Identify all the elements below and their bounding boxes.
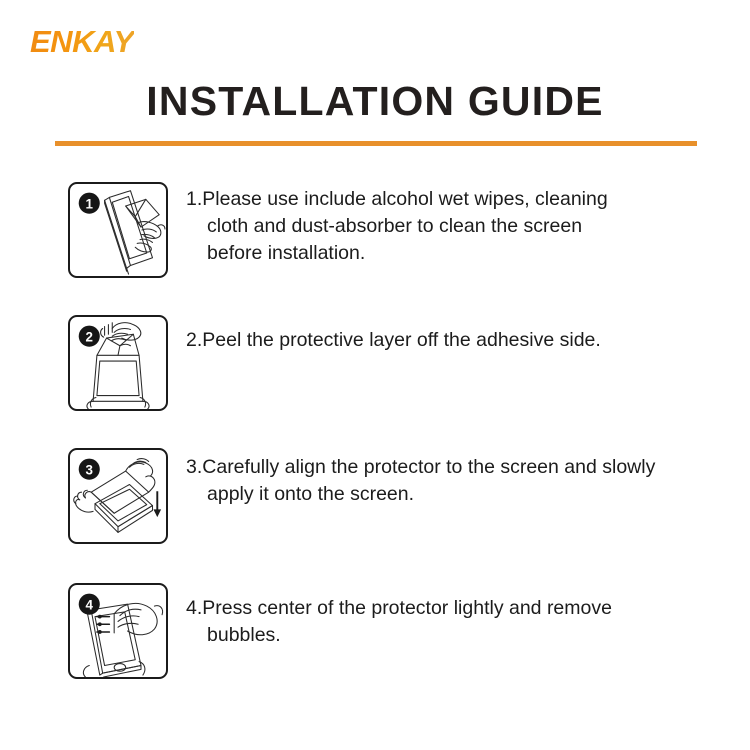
step-2-number: 2. — [186, 329, 202, 351]
installation-guide-page: ENKAY INSTALLATION GUIDE — [0, 0, 750, 750]
svg-text:4: 4 — [86, 597, 94, 612]
step-4-number: 4. — [186, 597, 202, 619]
title-divider — [55, 141, 697, 146]
svg-text:3: 3 — [86, 462, 93, 477]
step-4-line-1: Press center of the protector lightly an… — [202, 597, 612, 619]
step-4-line-2: bubbles. — [186, 622, 691, 649]
page-title: INSTALLATION GUIDE — [0, 78, 750, 125]
step-3-figure: 3 — [68, 448, 168, 544]
brand-name: ENKAY — [30, 24, 134, 60]
step-1-text: 1.Please use include alcohol wet wipes, … — [186, 186, 638, 267]
step-1-line-1: Please use include alcohol wet wipes, cl… — [202, 188, 607, 210]
step-4-figure: 4 — [68, 583, 168, 679]
svg-text:2: 2 — [86, 329, 93, 344]
step-1-line-2: cloth and dust-absorber to clean the scr… — [186, 213, 638, 240]
svg-text:1: 1 — [86, 196, 94, 211]
step-3-line-2: apply it onto the screen. — [186, 481, 706, 508]
step-4-text: 4.Press center of the protector lightly … — [186, 595, 691, 649]
step-3-line-1: Carefully align the protector to the scr… — [202, 456, 655, 478]
enkay-logo: ENKAY — [30, 24, 170, 60]
step-1-line-3: before installation. — [186, 240, 638, 267]
down-arrow-icon — [153, 509, 161, 517]
step-3-number: 3. — [186, 456, 202, 478]
step-2-figure: 2 — [68, 315, 168, 411]
step-1-figure: 1 — [68, 182, 168, 278]
step-2-line-1: Peel the protective layer off the adhesi… — [202, 329, 601, 351]
step-3-text: 3.Carefully align the protector to the s… — [186, 454, 706, 508]
step-2-text: 2.Peel the protective layer off the adhe… — [186, 327, 706, 354]
step-1-number: 1. — [186, 188, 202, 210]
